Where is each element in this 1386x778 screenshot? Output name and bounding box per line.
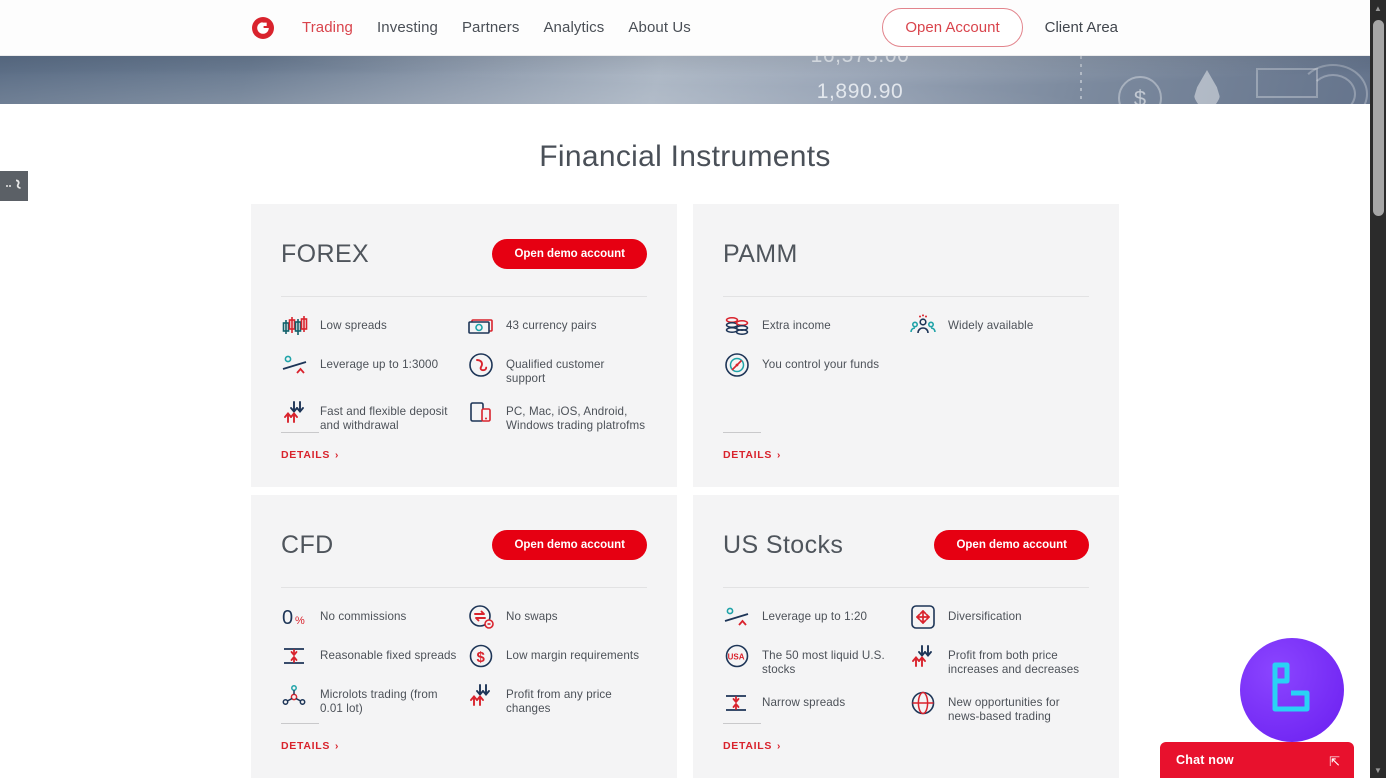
dollar-circle-icon: $ [1118, 76, 1162, 104]
chat-now-bar[interactable]: Chat now ⇱ [1160, 742, 1354, 778]
instrument-card-pamm: PAMM [693, 204, 1119, 487]
hero-banner: 16,573.00 1,890.90 $ [0, 56, 1370, 104]
instrument-card-us-stocks: US Stocks Open demo account Lever [693, 495, 1119, 778]
card-footer: DETAILS › [723, 723, 781, 754]
feature-label: Profit from both price increases and dec… [948, 645, 1089, 678]
chevron-right-icon: › [777, 450, 781, 461]
svg-text:$: $ [477, 649, 486, 666]
instrument-card-cfd: CFD Open demo account 0 % No commissions [251, 495, 677, 778]
card-divider [281, 296, 647, 297]
card-footer: DETAILS › [281, 432, 339, 463]
candlestick-chart-icon [281, 312, 309, 340]
zero-percent-icon: 0 % [281, 603, 309, 631]
feature-label: Extra income [762, 315, 831, 333]
svg-text:%: % [295, 615, 305, 627]
nav-item-about-us[interactable]: About Us [628, 19, 691, 36]
card-header: FOREX Open demo account [281, 234, 647, 274]
feature-label: No swaps [506, 606, 558, 624]
deposit-withdrawal-arrows-icon [909, 642, 937, 670]
devices-icon [467, 398, 495, 426]
no-swaps-icon [467, 603, 495, 631]
cursor-arrow-icon: ⇱ [1329, 754, 1340, 770]
feature-item: Extra income [723, 315, 903, 340]
coins-stack-icon [723, 312, 751, 340]
scroll-down-arrow-icon[interactable]: ▼ [1370, 762, 1386, 778]
feature-label: Microlots trading (from 0.01 lot) [320, 684, 461, 717]
nav-item-investing[interactable]: Investing [377, 19, 438, 36]
feature-item: 0 % No commissions [281, 606, 461, 631]
details-label: DETAILS [723, 449, 772, 461]
feature-item: 43 currency pairs [467, 315, 647, 340]
deposit-withdrawal-arrows-icon [281, 398, 309, 426]
chat-now-label: Chat now [1176, 753, 1234, 767]
open-account-button[interactable]: Open Account [882, 8, 1022, 47]
feature-item: Widely available [909, 315, 1089, 340]
scrollbar-thumb[interactable] [1373, 20, 1384, 216]
hero-quote-2: 1,890.90 [760, 80, 960, 104]
header-actions: Open Account Client Area [882, 8, 1118, 47]
nav-item-trading[interactable]: Trading [302, 19, 353, 36]
feature-label: Fast and flexible deposit and withdrawal [320, 401, 461, 434]
fixed-spread-icon [281, 642, 309, 670]
feature-item: Qualified customer support [467, 354, 647, 387]
callback-tab[interactable] [0, 171, 28, 201]
details-link[interactable]: DETAILS › [723, 740, 781, 752]
feature-item: Profit from any price changes [467, 684, 647, 717]
page-viewport: Trading Investing Partners Analytics Abo… [0, 0, 1370, 778]
card-header: CFD Open demo account [281, 525, 647, 565]
feature-label: Widely available [948, 315, 1033, 333]
details-link[interactable]: DETAILS › [281, 449, 339, 461]
card-header: PAMM [723, 234, 1089, 274]
nav-item-partners[interactable]: Partners [462, 19, 520, 36]
leverage-scale-icon [281, 351, 309, 379]
chevron-right-icon: › [335, 450, 339, 461]
diversification-icon [909, 603, 937, 631]
feature-item: Leverage up to 1:20 [723, 606, 903, 631]
feature-label: Low spreads [320, 315, 387, 333]
feature-item: Low spreads [281, 315, 461, 340]
leverage-scale-icon [723, 603, 751, 631]
instrument-card-forex: FOREX Open demo account [251, 204, 677, 487]
feature-label: Reasonable fixed spreads [320, 645, 456, 663]
details-link[interactable]: DETAILS › [723, 449, 781, 461]
banknotes-icon [467, 312, 495, 340]
funds-control-icon [723, 351, 751, 379]
card-divider [723, 587, 1089, 588]
feature-item: No swaps [467, 606, 647, 631]
feature-label: Qualified customer support [506, 354, 647, 387]
feature-label: No commissions [320, 606, 406, 624]
card-title: FOREX [281, 240, 369, 269]
footer-divider [723, 723, 761, 724]
microlots-nodes-icon [281, 681, 309, 709]
chevron-right-icon: › [335, 741, 339, 752]
hero-rectangle-decoration [1256, 68, 1318, 98]
brand-circle-logo-icon [1261, 659, 1323, 721]
hero-quote-1: 16,573.00 [760, 56, 960, 68]
card-title: CFD [281, 531, 334, 560]
feature-label: Leverage up to 1:20 [762, 606, 867, 624]
fixed-spread-icon [723, 689, 751, 717]
open-demo-account-button[interactable]: Open demo account [492, 239, 647, 269]
footer-divider [723, 432, 761, 433]
feature-label: Leverage up to 1:3000 [320, 354, 438, 372]
details-label: DETAILS [281, 740, 330, 752]
details-label: DETAILS [281, 449, 330, 461]
hero-arc-decoration [1298, 64, 1368, 104]
feature-list: Low spreads 43 currency pairs [281, 315, 647, 434]
feature-label: Profit from any price changes [506, 684, 647, 717]
feature-label: PC, Mac, iOS, Android, Windows trading p… [506, 401, 647, 434]
feature-item: Diversification [909, 606, 1089, 631]
usa-badge-icon: USA [723, 642, 751, 670]
footer-divider [281, 432, 319, 433]
details-link[interactable]: DETAILS › [281, 740, 339, 752]
deposit-withdrawal-arrows-icon [467, 681, 495, 709]
chat-brand-badge[interactable] [1240, 638, 1344, 742]
feature-item: USA The 50 most liquid U.S. stocks [723, 645, 903, 678]
feature-label: The 50 most liquid U.S. stocks [762, 645, 903, 678]
details-label: DETAILS [723, 740, 772, 752]
callback-phone-icon [5, 178, 23, 194]
feature-label: Low margin requirements [506, 645, 639, 663]
feature-item: $ Low margin requirements [467, 645, 647, 670]
svg-text:USA: USA [728, 653, 745, 662]
feature-label: You control your funds [762, 354, 879, 372]
card-title: PAMM [723, 240, 798, 269]
card-footer: DETAILS › [723, 432, 781, 463]
feature-label: Narrow spreads [762, 692, 845, 710]
feature-label: Diversification [948, 606, 1022, 624]
feature-item: Leverage up to 1:3000 [281, 354, 461, 387]
feature-label: 43 currency pairs [506, 315, 597, 333]
nav-item-analytics[interactable]: Analytics [543, 19, 604, 36]
feature-list: Leverage up to 1:20 [723, 606, 1089, 725]
scroll-up-arrow-icon[interactable]: ▲ [1370, 0, 1386, 16]
hero-arc-decoration-inner [1310, 74, 1356, 104]
brand-g-logo-icon[interactable] [252, 17, 274, 39]
card-footer: DETAILS › [281, 723, 339, 754]
svg-text:0: 0 [282, 607, 293, 629]
feature-item: Reasonable fixed spreads [281, 645, 461, 670]
footer-divider [281, 723, 319, 724]
hero-dotted-line [1080, 56, 1082, 104]
site-header: Trading Investing Partners Analytics Abo… [0, 0, 1370, 56]
primary-navigation: Trading Investing Partners Analytics Abo… [252, 17, 691, 39]
feature-item: Microlots trading (from 0.01 lot) [281, 684, 461, 717]
feature-item: New opportunities for news-based trading [909, 692, 1089, 725]
open-demo-account-button[interactable]: Open demo account [492, 530, 647, 560]
chevron-right-icon: › [777, 741, 781, 752]
feature-item: Narrow spreads [723, 692, 903, 725]
feature-item: You control your funds [723, 354, 903, 379]
dollar-circle-icon: $ [467, 642, 495, 670]
feature-list: 0 % No commissions [281, 606, 647, 717]
main-content: Financial Instruments FOREX Open demo ac… [0, 104, 1370, 778]
feature-item: Fast and flexible deposit and withdrawal [281, 401, 461, 434]
globe-icon [909, 689, 937, 717]
card-divider [723, 296, 1089, 297]
feature-label: New opportunities for news-based trading [948, 692, 1089, 725]
phone-support-icon [467, 351, 495, 379]
vertical-scrollbar[interactable]: ▲ ▼ [1370, 0, 1386, 778]
feature-list: Extra income [723, 315, 1089, 379]
open-demo-account-button[interactable]: Open demo account [934, 530, 1089, 560]
card-title: US Stocks [723, 531, 843, 560]
oil-droplet-icon [1194, 70, 1220, 104]
people-group-icon [909, 312, 937, 340]
card-divider [281, 587, 647, 588]
client-area-link[interactable]: Client Area [1045, 19, 1118, 36]
instrument-card-grid: FOREX Open demo account [251, 204, 1119, 778]
feature-item: Profit from both price increases and dec… [909, 645, 1089, 678]
page-title: Financial Instruments [0, 140, 1370, 174]
card-header: US Stocks Open demo account [723, 525, 1089, 565]
feature-item: PC, Mac, iOS, Android, Windows trading p… [467, 401, 647, 434]
